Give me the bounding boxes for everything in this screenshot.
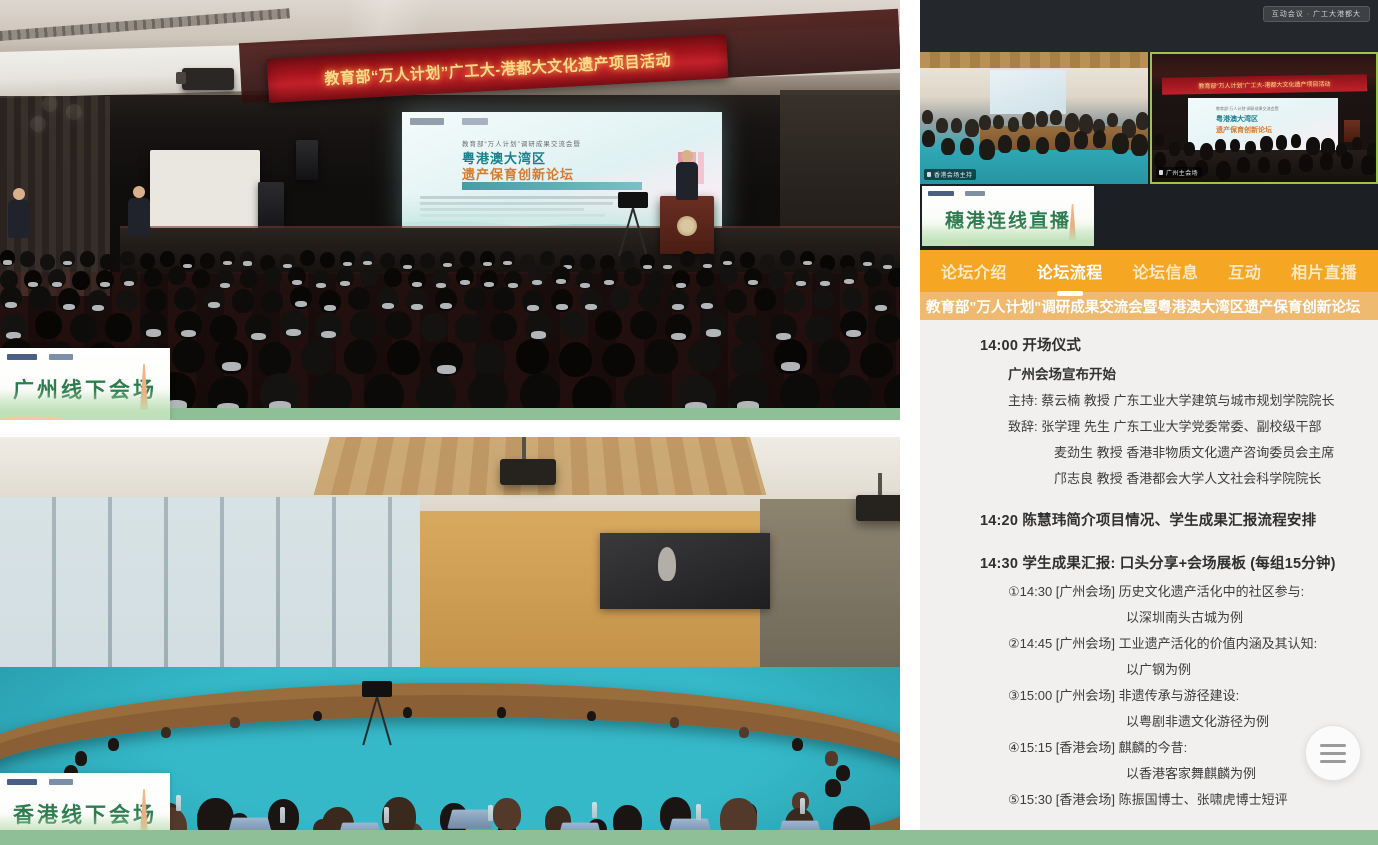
schedule-item: ③15:00 [广州会场] 非遗传承与游径建设: <box>1008 685 1368 704</box>
audience-member <box>290 286 312 309</box>
tile-person <box>1136 112 1148 130</box>
tile-person <box>1200 143 1213 160</box>
audience-member <box>240 251 255 267</box>
audience-member <box>60 251 75 267</box>
water-bottle <box>696 804 701 820</box>
water-bottle <box>384 807 389 823</box>
tab-forum-info[interactable]: 论坛信息 <box>1130 255 1200 287</box>
water-bottle <box>592 802 597 818</box>
stream-title-banner: 穗港连线直播 <box>922 186 1094 246</box>
water-bottle <box>280 807 285 823</box>
audience-member <box>780 250 795 266</box>
attendee <box>108 738 119 751</box>
schedule-heading: 14:00 开场仪式 <box>980 334 1368 355</box>
audience-member <box>315 312 342 340</box>
tile-label: 广州主会场 <box>1156 167 1202 178</box>
audience-member <box>116 289 138 312</box>
tile-person <box>1093 130 1106 148</box>
section-tabs[interactable]: 论坛介绍 论坛流程 论坛信息 互动 相片直播 <box>920 250 1378 292</box>
audience-member <box>464 287 486 310</box>
guangzhou-venue-banner: 广州线下会场 <box>0 348 170 420</box>
video-conference-area[interactable]: 互动会议 · 广工大港都大 香港会场主持 教育部“万人计划”广工大-港都大文化遗… <box>920 0 1378 250</box>
audience-member <box>720 266 738 285</box>
schedule-line-speech: 致辞: 张学理 先生 广东工业大学党委常委、副校级干部 <box>1008 416 1368 435</box>
attendee <box>497 707 506 717</box>
audience-member <box>595 311 622 339</box>
tile-person <box>1184 142 1195 156</box>
attendee <box>836 765 850 781</box>
tile-person <box>1260 136 1272 152</box>
attendee <box>313 711 322 721</box>
tile-screen-line1: 粤港澳大湾区 <box>1216 114 1258 124</box>
tile-ceiling <box>920 52 1148 68</box>
audience-member <box>435 288 457 311</box>
tile-person <box>1320 153 1333 170</box>
schedule-heading: 14:30 学生成果汇报: 口头分享+会场展板 (每组15分钟) <box>980 552 1368 573</box>
tile-person <box>936 118 948 133</box>
tile-person <box>1008 117 1019 132</box>
audience-member <box>215 339 248 374</box>
tile-person <box>1245 141 1255 155</box>
audience-member <box>500 251 515 267</box>
audience-member <box>456 267 474 286</box>
bottom-accent-bar <box>0 830 1378 845</box>
hamburger-menu-icon <box>1320 744 1346 747</box>
tile-screen-eyebrow: 教育部“万人计划”调研成果交流会暨 <box>1216 106 1279 112</box>
tile-person <box>1216 161 1231 181</box>
audience-member <box>580 289 602 312</box>
tile-person <box>1306 137 1320 155</box>
audience-member <box>288 267 306 286</box>
audience-member <box>560 311 587 339</box>
loudspeaker <box>296 140 318 180</box>
audience-member <box>800 251 815 267</box>
live-stream-forum-page: 教育部“万人计划”广工大-港都大文化遗产项目活动 教育部“万人计划”调研成果交流… <box>0 0 1378 845</box>
audience-member <box>696 268 714 287</box>
audience-member <box>377 287 399 310</box>
standing-person <box>8 188 30 238</box>
attendee <box>493 798 521 830</box>
schedule-item: ①14:30 [广州会场] 历史文化遗产活化中的社区参与: <box>1008 581 1368 600</box>
audience-member <box>387 340 420 375</box>
video-camera <box>614 192 652 258</box>
tile-person <box>965 119 979 137</box>
tile-person <box>1065 113 1080 132</box>
audience-member <box>552 266 570 285</box>
hamburger-menu-icon <box>1320 760 1346 763</box>
audience-member <box>336 268 354 287</box>
tile-label: 香港会场主持 <box>924 169 976 180</box>
banner-logos <box>7 779 73 785</box>
audience-member <box>667 289 689 312</box>
attendee <box>230 717 239 727</box>
tile-person <box>1215 139 1226 153</box>
tile-led-banner-text: 教育部“万人计划”广工大-港都大文化遗产项目活动 <box>1198 79 1330 90</box>
audience-member <box>172 339 205 374</box>
audience-member <box>140 311 167 339</box>
screen-rule <box>462 182 642 190</box>
audience-member <box>406 288 428 311</box>
whiteboard <box>150 150 260 228</box>
audience-member <box>120 251 135 267</box>
audience-member <box>301 340 334 375</box>
screen-title-line2: 遗产保育创新论坛 <box>462 164 574 183</box>
video-camera <box>358 681 396 747</box>
audience-member <box>860 251 875 267</box>
schedule-line-host: 主持: 蔡云楠 教授 广东工业大学建筑与城市规划学院院长 <box>1008 390 1368 409</box>
tile-person <box>1230 139 1240 152</box>
tile-person <box>1055 132 1070 152</box>
audience-member <box>812 287 834 310</box>
attendee <box>75 751 88 765</box>
audience-member <box>300 250 315 266</box>
tile-person <box>1107 113 1118 127</box>
photo-green-strip <box>168 408 900 420</box>
attendee <box>670 717 679 727</box>
schedule-block-briefing: 14:20 陈慧玮简介项目情况、学生成果汇报流程安排 <box>980 509 1368 530</box>
tile-label-text: 广州主会场 <box>1166 168 1198 177</box>
schedule-heading: 14:20 陈慧玮简介项目情况、学生成果汇报流程安排 <box>980 509 1368 530</box>
audience-member <box>344 339 377 374</box>
hongkong-conference-room-photo: 香港线下会场 <box>0 437 900 845</box>
audience-member <box>340 251 355 267</box>
attendee <box>403 707 412 717</box>
tile-person <box>979 115 991 130</box>
audience-member <box>620 251 635 267</box>
schedule-content[interactable]: 14:00 开场仪式 广州会场宣布开始 主持: 蔡云楠 教授 广东工业大学建筑与… <box>920 320 1378 815</box>
tile-person <box>922 130 935 147</box>
tile-person <box>979 139 995 160</box>
audience-member <box>817 339 850 374</box>
audience-member <box>35 311 62 339</box>
banner-logos <box>7 354 73 360</box>
audience-member <box>348 287 370 310</box>
attendee <box>587 711 596 721</box>
speaker-person <box>676 150 698 200</box>
audience-member <box>516 339 549 374</box>
tile-person <box>941 138 955 156</box>
audience-member <box>744 268 762 287</box>
tile-person <box>1154 152 1166 168</box>
audience-member <box>29 286 51 309</box>
audience-member <box>384 268 402 287</box>
water-bottle <box>176 795 181 811</box>
schedule-item: ②14:45 [广州会场] 工业遗产活化的价值内涵及其认知: <box>1008 633 1368 652</box>
audience-member <box>528 267 546 286</box>
audience-member <box>609 287 631 310</box>
audience-member <box>700 311 727 339</box>
audience-member <box>80 251 95 267</box>
banner-logos <box>928 191 985 196</box>
audience-member <box>175 311 202 339</box>
tile-person <box>1050 110 1061 125</box>
attendee <box>161 727 171 739</box>
tile-person <box>922 110 933 124</box>
schedule-line-speaker-3: 邝志良 教授 香港都会大学人文社会科学院院长 <box>1054 468 1368 487</box>
tile-person <box>1291 134 1301 148</box>
audience-member <box>638 287 660 310</box>
audience-member <box>0 250 15 266</box>
forum-subtitle-text: 教育部"万人计划"调研成果交流会暨粤港澳大湾区遗产保育创新论坛 <box>926 296 1360 317</box>
tile-person <box>1258 157 1270 173</box>
projection-screen <box>600 533 770 609</box>
audience-member <box>783 289 805 312</box>
skyline-graphic <box>922 224 1094 246</box>
tab-forum-schedule[interactable]: 论坛流程 <box>1035 255 1105 287</box>
audience-member <box>792 269 810 288</box>
screen-logos <box>410 118 488 125</box>
audience-member <box>680 251 695 267</box>
room-label-text: 互动会议 · 广工大港都大 <box>1272 9 1361 19</box>
tile-person <box>1299 154 1313 172</box>
guangzhou-auditorium-photo: 教育部“万人计划”广工大-港都大文化遗产项目活动 教育部“万人计划”调研成果交流… <box>0 0 900 420</box>
audience-member <box>120 268 138 287</box>
menu-fab-button[interactable] <box>1305 725 1361 781</box>
audience-member <box>816 268 834 287</box>
audience-member <box>145 289 167 312</box>
tile-person <box>951 118 963 133</box>
hamburger-menu-icon <box>1320 752 1346 755</box>
podium <box>660 196 714 254</box>
tile-led-banner: 教育部“万人计划”广工大-港都大文化遗产项目活动 <box>1162 74 1367 95</box>
audience-member <box>350 311 377 339</box>
tile-person <box>1036 137 1049 154</box>
attendee <box>792 738 803 751</box>
audience-member <box>144 268 162 287</box>
audience-member <box>688 338 721 373</box>
audience-member <box>525 312 552 340</box>
room-label-pill: 互动会议 · 广工大港都大 <box>1263 6 1370 22</box>
schedule-line-speaker-2: 麦劲生 教授 香港非物质文化遗产咨询委员会主席 <box>1054 442 1368 461</box>
tile-person <box>1154 134 1164 147</box>
tile-person <box>1361 155 1377 176</box>
audience-member <box>720 251 735 267</box>
audience-member <box>630 311 657 339</box>
projector-icon <box>856 495 900 521</box>
audience-member <box>624 267 642 286</box>
tile-person <box>1341 152 1353 168</box>
audience-member <box>0 286 22 309</box>
attendee <box>825 751 838 765</box>
tile-person <box>1352 137 1362 150</box>
tile-person <box>1022 112 1035 129</box>
audience-member <box>203 287 225 310</box>
audience-member <box>58 288 80 311</box>
water-bottle <box>800 798 805 814</box>
audience-member <box>840 266 858 285</box>
audience-member <box>360 267 378 286</box>
tile-person <box>1112 133 1129 155</box>
tab-interaction[interactable]: 互动 <box>1226 255 1263 287</box>
tile-person <box>1017 135 1030 152</box>
stream-panel: 互动会议 · 广工大港都大 香港会场主持 教育部“万人计划”广工大-港都大文化遗… <box>920 0 1378 845</box>
projector-icon <box>182 68 234 90</box>
audience-member <box>864 268 882 287</box>
laptop <box>447 810 493 829</box>
tile-person <box>993 115 1004 129</box>
audience-member <box>220 251 235 267</box>
tab-forum-intro[interactable]: 论坛介绍 <box>939 255 1009 287</box>
tab-photo-live[interactable]: 相片直播 <box>1289 255 1359 287</box>
schedule-subheading: 广州会场宣布开始 <box>1008 363 1368 383</box>
audience-member <box>754 288 776 311</box>
audience-member <box>264 267 282 286</box>
audience-member <box>174 287 196 310</box>
forum-subtitle-bar: 教育部"万人计划"调研成果交流会暨粤港澳大湾区遗产保育创新论坛 <box>920 292 1378 320</box>
audience-member <box>645 339 678 374</box>
schedule-item: ⑤15:30 [香港会场] 陈振国博士、张啸虎博士短评 <box>1008 789 1368 808</box>
audience-member <box>460 251 475 267</box>
tile-person <box>1276 135 1287 149</box>
audience-member <box>493 287 515 310</box>
audience-member <box>490 313 517 341</box>
panel-bottom-gap <box>920 816 1378 830</box>
audience-member <box>20 251 35 267</box>
tile-person <box>998 135 1012 153</box>
audience-member <box>280 310 307 338</box>
tile-person <box>960 138 974 156</box>
audience-member <box>480 251 495 267</box>
audience-member <box>540 251 555 267</box>
audience-member <box>385 311 412 339</box>
audience-member <box>888 268 900 287</box>
schedule-item-sub: 以深圳南头古城为例 <box>1126 607 1368 626</box>
video-tile-hongkong[interactable]: 香港会场主持 <box>920 52 1148 184</box>
skyline-graphic <box>0 390 170 420</box>
tile-person <box>1237 157 1250 174</box>
tile-person <box>1278 159 1290 175</box>
audience-member <box>696 288 718 311</box>
audience-member <box>840 311 867 339</box>
audience-member <box>774 339 807 374</box>
tile-person <box>1169 142 1180 156</box>
tile-label-text: 香港会场主持 <box>934 170 972 179</box>
tile-person <box>1131 134 1148 156</box>
tile-person <box>1074 131 1088 149</box>
attendee <box>739 727 749 739</box>
audience-member <box>600 267 618 286</box>
audience-member <box>168 266 186 285</box>
audience-member <box>551 289 573 312</box>
screen-eyebrow: 教育部“万人计划”调研成果交流会暨 <box>462 138 581 148</box>
audience-member <box>360 251 375 267</box>
led-banner-text: 教育部“万人计划”广工大-港都大文化遗产项目活动 <box>324 48 672 89</box>
audience-member <box>841 287 863 310</box>
audience-member <box>0 313 27 341</box>
audience-member <box>160 251 175 267</box>
schedule-block-opening: 14:00 开场仪式 广州会场宣布开始 主持: 蔡云楠 教授 广东工业大学建筑与… <box>980 334 1368 487</box>
venue-photos-column: 教育部“万人计划”广工大-港都大文化遗产项目活动 教育部“万人计划”调研成果交流… <box>0 0 920 845</box>
tile-person <box>1036 111 1048 127</box>
water-bottle <box>488 805 493 821</box>
video-tile-guangzhou[interactable]: 教育部“万人计划”广工大-港都大文化遗产项目活动 教育部“万人计划”调研成果交流… <box>1150 52 1378 184</box>
attendee <box>825 779 840 797</box>
schedule-item-sub: 以广钢为例 <box>1126 659 1368 678</box>
projector-icon <box>500 459 556 485</box>
standing-person <box>128 186 150 236</box>
